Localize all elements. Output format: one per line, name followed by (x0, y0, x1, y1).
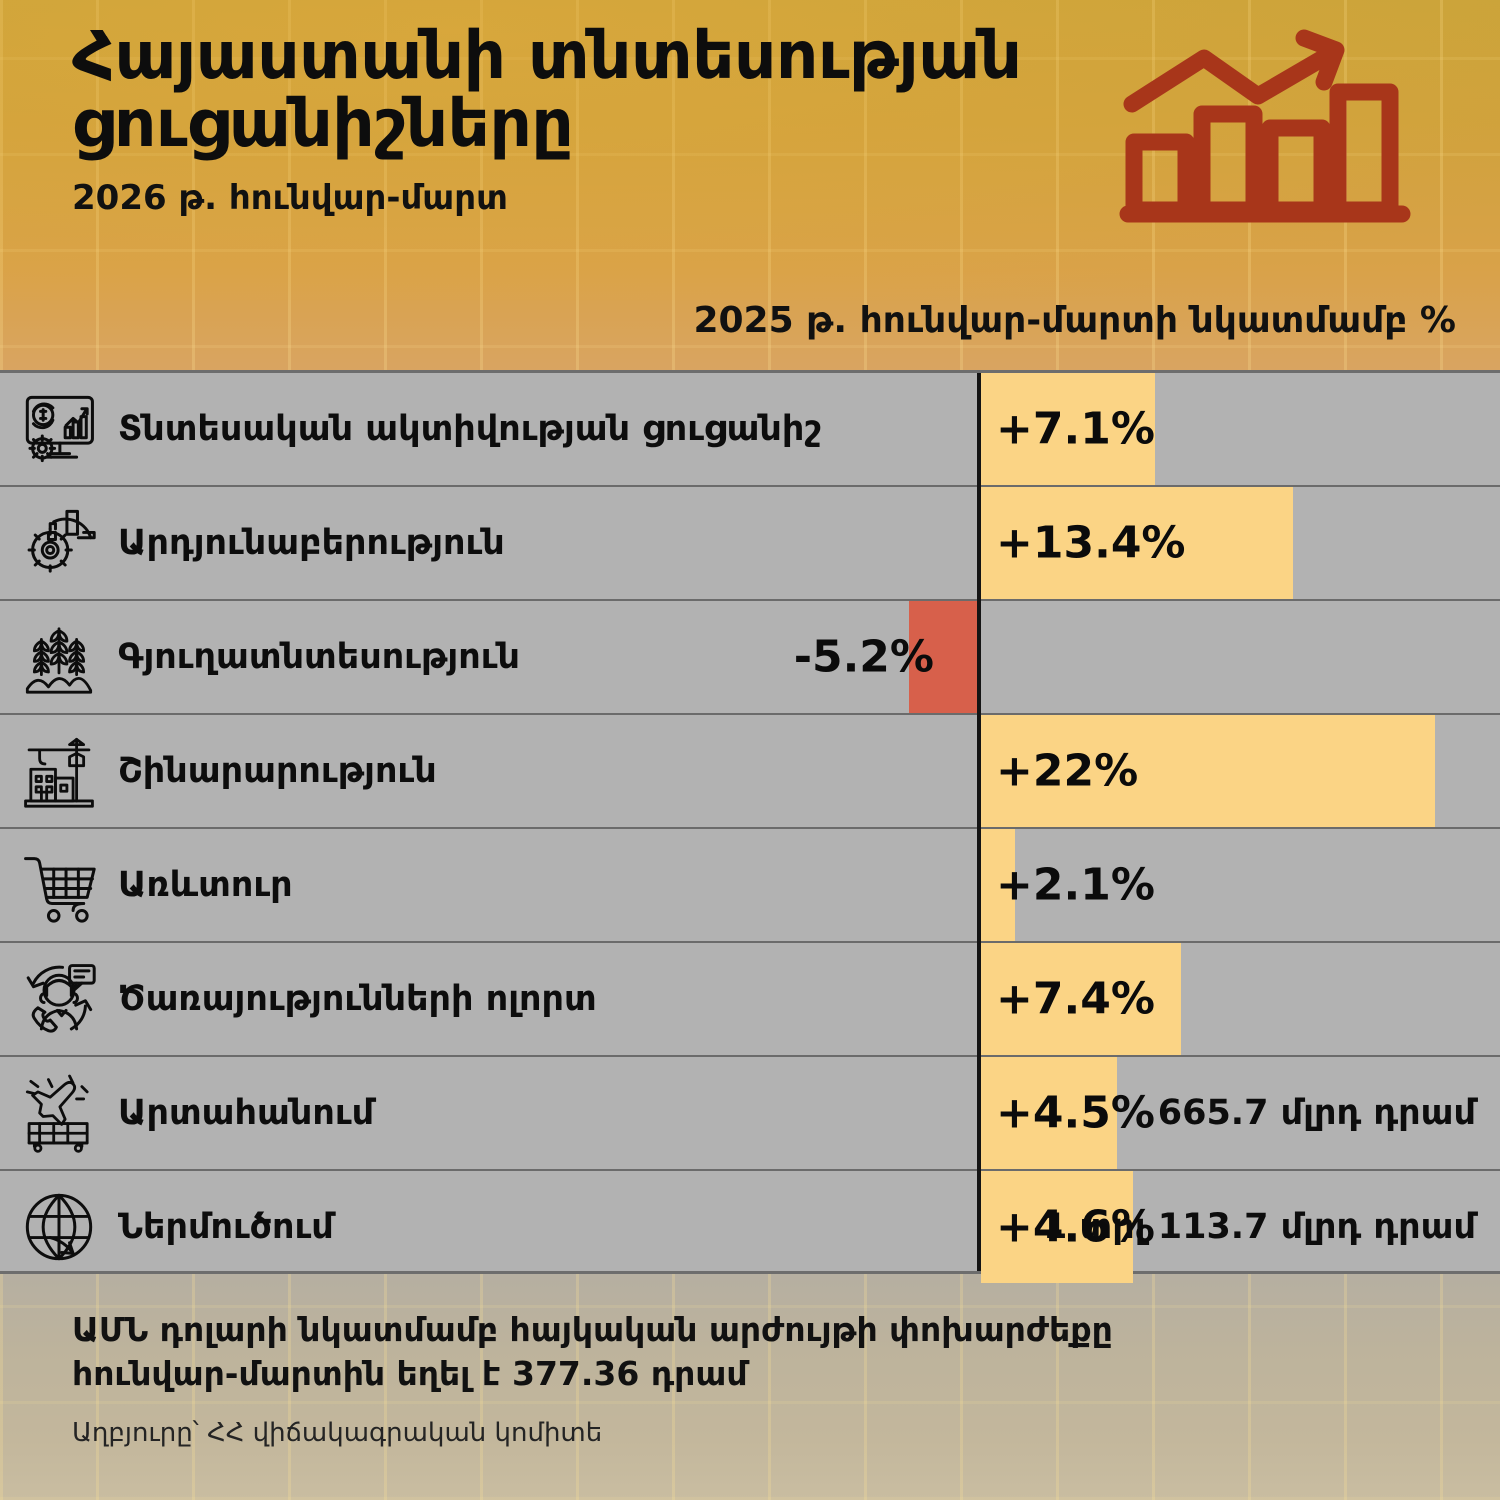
row-label: Ներմուծում (118, 1207, 334, 1247)
row-percent: +22% (996, 746, 1138, 797)
row-percent: +2.1% (996, 860, 1155, 911)
table-row[interactable]: Արտահանում 665.7 մլրդ դրամ +4.5% (0, 1057, 1500, 1171)
table-row[interactable]: Տնտեսական ակտիվության ցուցանիշ +7.1% (0, 373, 1500, 487)
table-row[interactable]: Շինարարություն +22% (0, 715, 1500, 829)
row-percent: +7.4% (996, 974, 1155, 1025)
row-label: Տնտեսական ակտիվության ցուցանիշ (118, 409, 821, 449)
table-row[interactable]: Ներմուծում 1 տրլ 113.7 մլրդ դրամ +4.6% (0, 1171, 1500, 1283)
zero-axis-line (977, 373, 981, 1271)
indicators-table: Տնտեսական ակտիվության ցուցանիշ +7.1% (0, 370, 1500, 1274)
table-row[interactable]: Առևտուր +2.1% (0, 829, 1500, 943)
industry-gear-icon (0, 487, 118, 599)
shopping-cart-icon (0, 829, 118, 941)
row-label: Առևտուր (118, 865, 293, 905)
economic-activity-monitor-icon (0, 373, 118, 485)
source-note: Աղբյուրը՝ ՀՀ վիճակագրական կոմիտե (72, 1418, 602, 1448)
table-row[interactable]: Ծառայությունների ոլորտ +7.4% (0, 943, 1500, 1057)
bar-chart-growth-icon (1118, 24, 1428, 234)
column-header: 2025 թ. հունվար-մարտի նկատմամբ % (0, 300, 1456, 356)
row-label: Գյուղատնտեսություն (118, 637, 520, 677)
customer-service-icon (0, 943, 118, 1055)
exchange-rate-note: ԱՄՆ դոլարի նկատմամբ հայկական արժույթի փո… (72, 1308, 1272, 1396)
table-row[interactable]: Գյուղատնտեսություն -5.2% (0, 601, 1500, 715)
row-label: Ծառայությունների ոլորտ (118, 979, 597, 1019)
row-percent: +4.5% (996, 1088, 1155, 1139)
row-label: Արդյունաբերություն (118, 523, 505, 563)
infographic-canvas: Հայաստանի տնտեսության ցուցանիշները 2026 … (0, 0, 1500, 1500)
export-plane-icon (0, 1057, 118, 1169)
construction-crane-icon (0, 715, 118, 827)
page-subtitle: 2026 թ. հունվար-մարտ (72, 178, 1152, 218)
row-value: 665.7 մլրդ դրամ (1158, 1093, 1500, 1133)
row-percent: +4.6% (996, 1202, 1155, 1253)
agriculture-wheat-icon (0, 601, 118, 713)
import-globe-icon (0, 1171, 118, 1283)
row-percent: -5.2% (794, 632, 934, 683)
page-title: Հայաստանի տնտեսության ցուցանիշները (72, 22, 1152, 158)
row-label: Արտահանում (118, 1093, 374, 1133)
row-percent: +13.4% (996, 518, 1186, 569)
table-row[interactable]: Արդյունաբերություն +13.4% (0, 487, 1500, 601)
header: Հայաստանի տնտեսության ցուցանիշները 2026 … (72, 22, 1152, 218)
row-percent: +7.1% (996, 404, 1155, 455)
row-label: Շինարարություն (118, 751, 437, 791)
